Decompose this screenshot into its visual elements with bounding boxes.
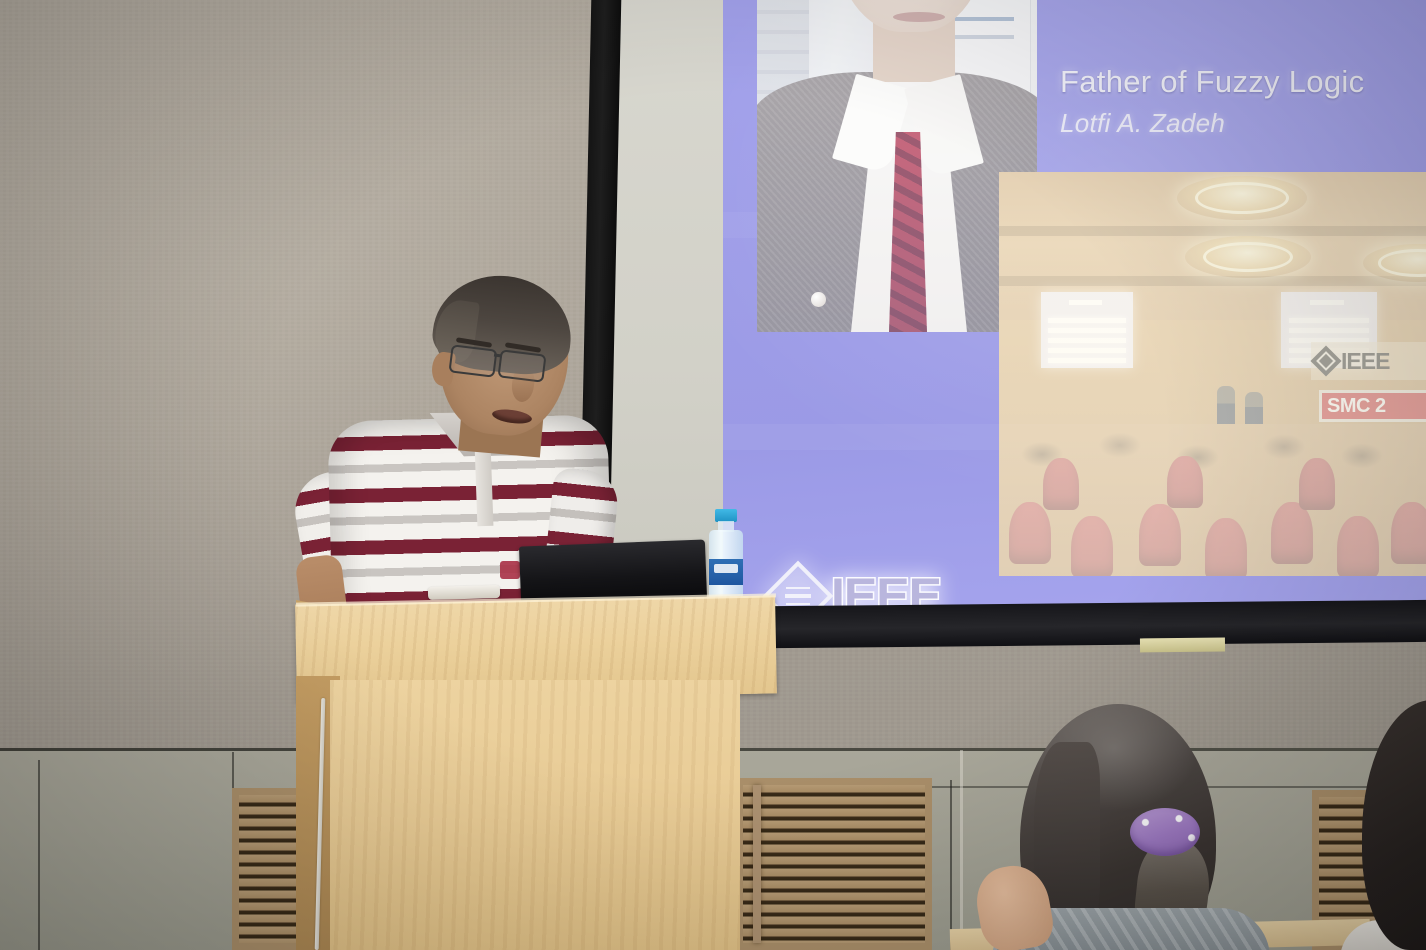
wall-panel-seam [950, 780, 952, 950]
speaker-shirt-logo [500, 561, 520, 579]
presentation-photo-scene: … University, Texas) Father of Fuzzy Log… [0, 0, 1426, 950]
hall-projection-wash [999, 172, 1426, 576]
louver-divider [753, 785, 761, 943]
slide-subheading: Lotfi A. Zadeh [1060, 108, 1225, 139]
bottle-label [709, 559, 743, 585]
louver-slats [743, 785, 925, 943]
slide-heading: Father of Fuzzy Logic [1060, 64, 1364, 100]
power-cable-secondary [960, 750, 963, 950]
wall-panel-seam [38, 760, 40, 950]
speaker-shirt-placket [475, 444, 494, 527]
portrait-projection-wash [757, 0, 1037, 332]
speaker-eyeglasses-left-lens [448, 344, 497, 377]
zadeh-portrait-photo [757, 0, 1037, 332]
projected-slide: … University, Texas) Father of Fuzzy Log… [723, 0, 1426, 620]
water-bottle[interactable] [708, 509, 744, 601]
presenter-clicker[interactable] [428, 585, 500, 600]
podium-front-panel [330, 680, 740, 950]
purple-scrunchie [1130, 808, 1200, 856]
projection-screen-label [1140, 638, 1225, 653]
wall-louver-vent [736, 778, 932, 950]
conference-hall-photo: IEEE SMC 2 [999, 172, 1426, 576]
